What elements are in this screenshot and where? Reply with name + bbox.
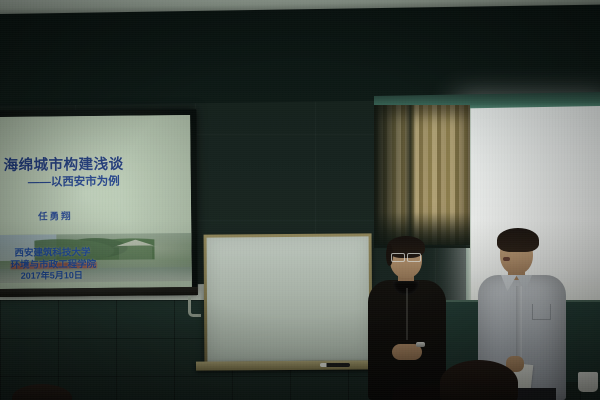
audience-head-1 (440, 360, 518, 400)
audience-cup (578, 372, 598, 392)
eyeglasses-icon (391, 253, 421, 260)
person-left-zipper (406, 288, 408, 340)
wall-upper-dark-band (0, 2, 600, 106)
person-right-shirt-placket (516, 286, 522, 366)
presentation-slide: 海绵城市构建浅谈 ——以西安市为例 任勇翔 西安建筑科技大学 环境与市政工程学院… (0, 115, 192, 289)
wall-hook-icon (188, 296, 201, 317)
person-right-mouth (503, 257, 510, 261)
whiteboard (204, 233, 373, 364)
wristwatch-icon (416, 342, 425, 347)
slide-date: 2017年5月10日 (21, 268, 83, 282)
marker-pen (320, 363, 350, 367)
slide-subtitle: ——以西安市为例 (28, 172, 192, 190)
projection-screen: 海绵城市构建浅谈 ——以西安市为例 任勇翔 西安建筑科技大学 环境与市政工程学院… (0, 109, 198, 297)
lecture-hall-photo: Photograph of a university lecture hall:… (0, 0, 600, 400)
projection-screen-surface: 海绵城市构建浅谈 ——以西安市为例 任勇翔 西安建筑科技大学 环境与市政工程学院… (0, 115, 192, 289)
slide-presenter-name: 任勇翔 (38, 208, 73, 222)
person-right-hair (497, 228, 539, 252)
person-right-shirt-pocket (532, 304, 551, 320)
person-left-man-in-black (366, 236, 448, 400)
whiteboard-marker-tray (196, 360, 382, 370)
whiteboard-surface (207, 236, 370, 361)
